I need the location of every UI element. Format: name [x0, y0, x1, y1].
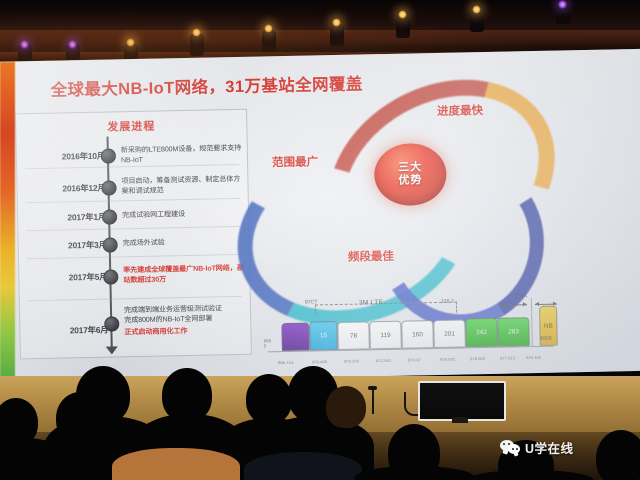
watermark: U学在线: [500, 438, 574, 457]
microphone-stand: [372, 388, 374, 414]
wechat-dot: [512, 448, 514, 450]
wechat-dot: [516, 448, 518, 450]
presenter-monitor: [418, 381, 506, 421]
watermark-text: U学在线: [525, 438, 574, 457]
screenshot-root: 全球最大NB-IoT网络，31万基站全网覆盖 发展进程 2016年10月 新采购…: [0, 0, 640, 480]
audience-shoulders-foreground: [112, 448, 240, 480]
projection-screen: 全球最大NB-IoT网络，31万基站全网覆盖 发展进程 2016年10月 新采购…: [0, 49, 640, 384]
audience-head: [326, 386, 366, 428]
screen-vignette: [0, 49, 640, 384]
wechat-bubble-small: [508, 444, 520, 454]
wechat-icon: [500, 440, 520, 455]
audience-shoulders-foreground: [244, 452, 362, 480]
wechat-dot: [503, 443, 505, 445]
audience-head-foreground: [596, 430, 640, 480]
monitor-stand: [452, 417, 468, 423]
microphone-head-icon: [368, 386, 377, 390]
wechat-dot: [508, 443, 510, 445]
audience-head: [246, 374, 292, 424]
screen-left-color-strip: [0, 62, 15, 384]
